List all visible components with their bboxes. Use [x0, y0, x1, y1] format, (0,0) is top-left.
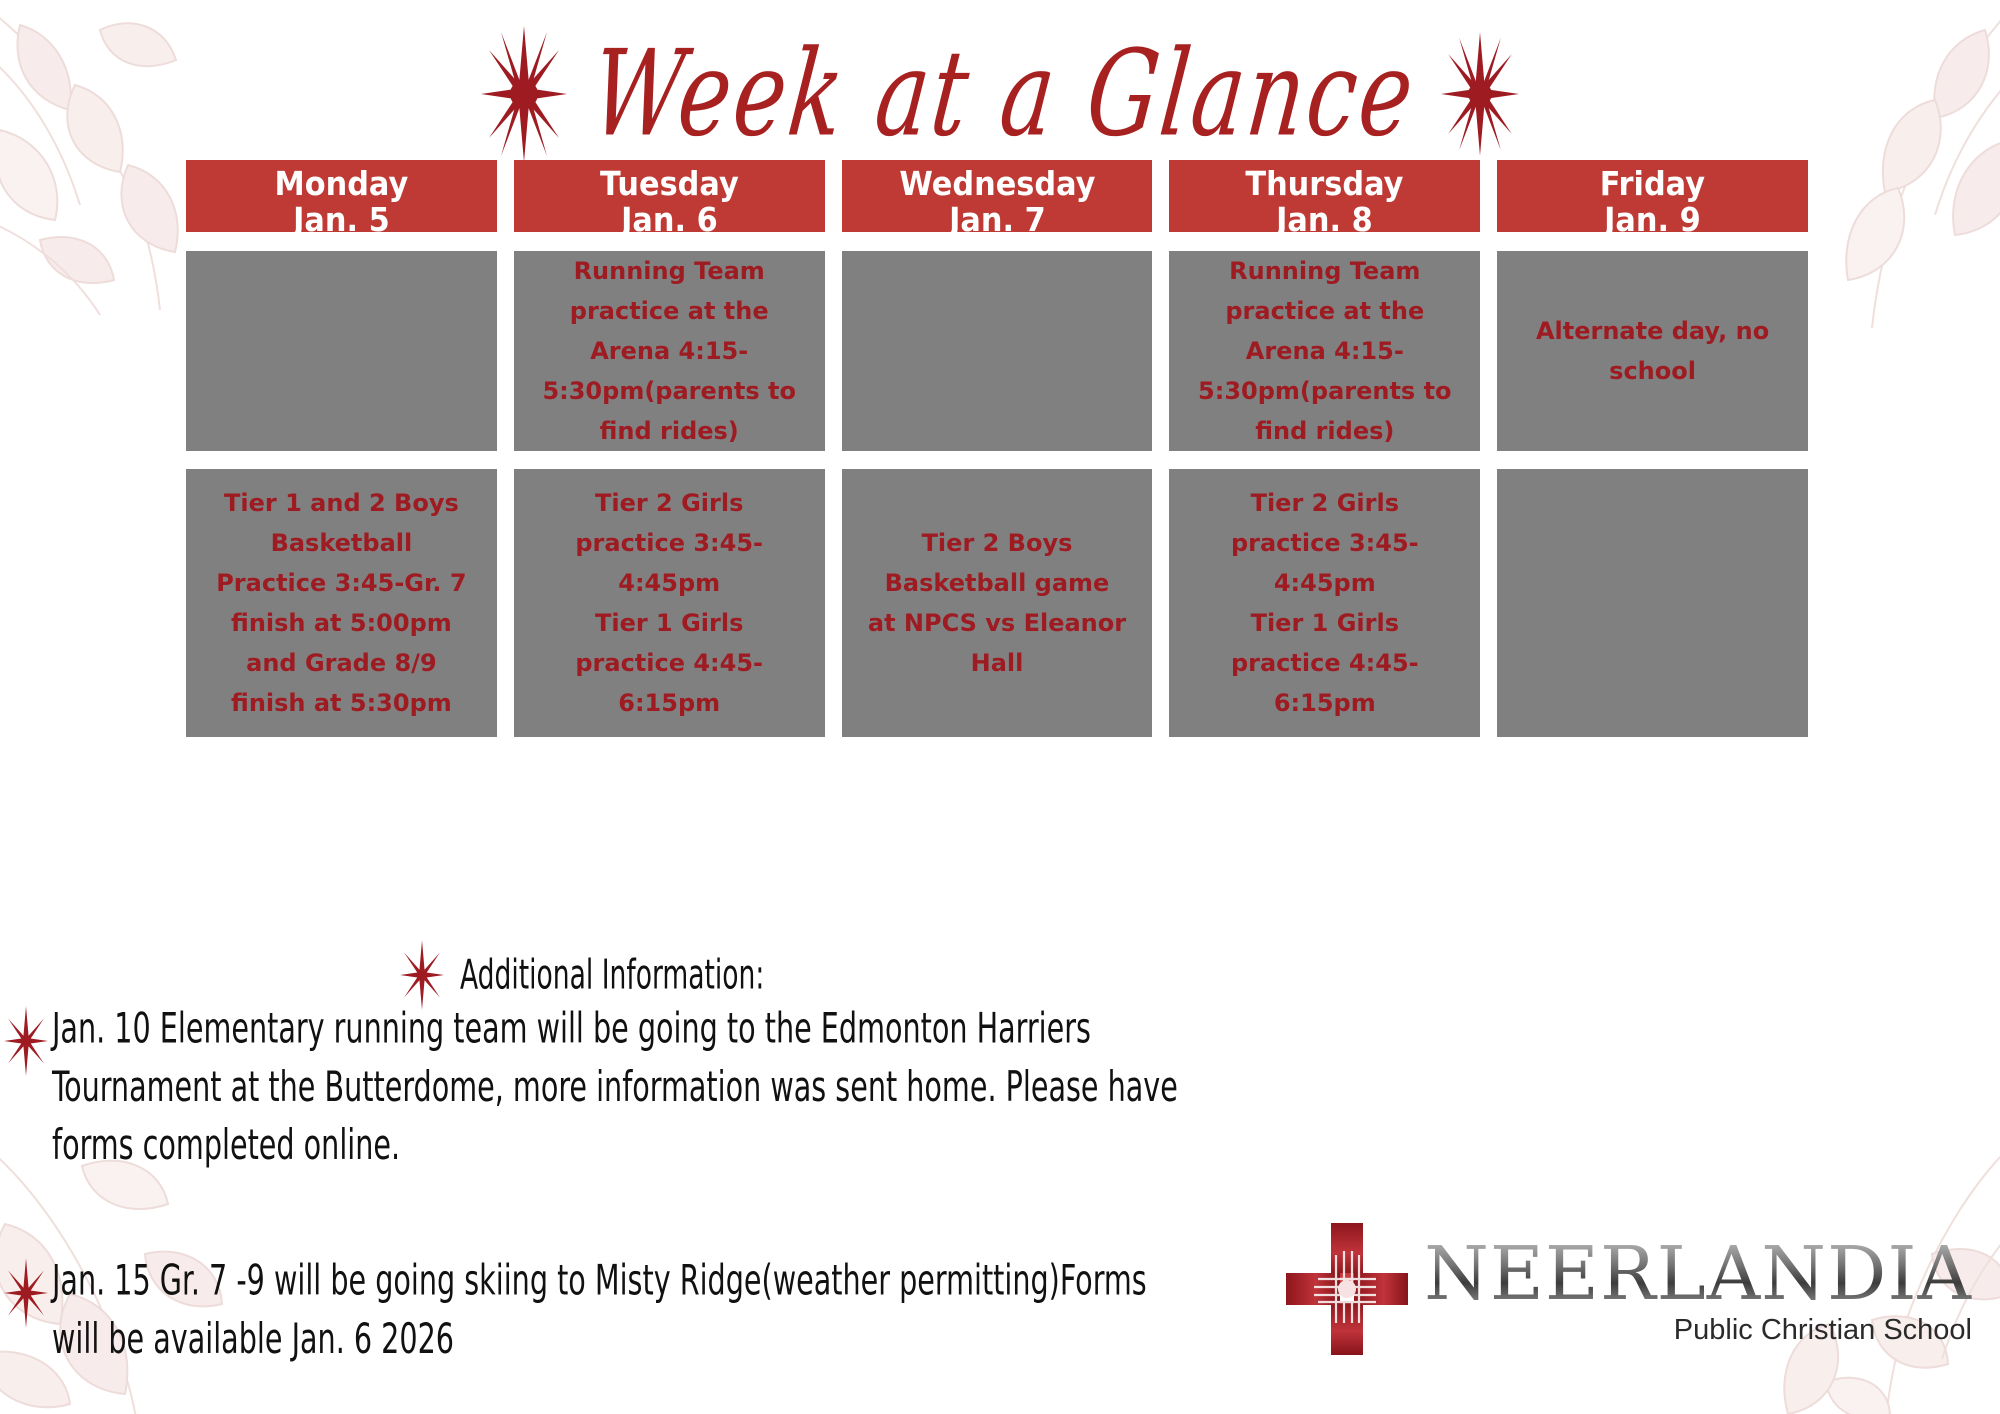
poster-title-row: Week at a Glance	[0, 34, 2000, 154]
page-title: Week at a Glance	[587, 35, 1421, 154]
day-date: Jan. 8	[1182, 202, 1468, 238]
day-header-wednesday: Wednesday Jan. 7	[842, 160, 1153, 232]
cell-text: Tier 2 Girls practice 3:45-4:45pm Tier 1…	[1195, 483, 1454, 723]
calendar-header-row: Monday Jan. 5 Tuesday Jan. 6 Wednesday J…	[186, 160, 1808, 232]
day-date: Jan. 7	[854, 202, 1140, 238]
day-header-friday: Friday Jan. 9	[1497, 160, 1808, 232]
cell-text: Tier 1 and 2 Boys Basketball Practice 3:…	[212, 483, 471, 723]
calendar-cell-wednesday-1	[842, 251, 1153, 451]
calendar-cell-monday-1	[186, 251, 497, 451]
logo-wordmark: NEERLANDIA Public Christian School	[1424, 1237, 1972, 1347]
sparkle-starburst-icon	[481, 26, 567, 162]
sparkle-starburst-icon-secondary	[1441, 31, 1519, 157]
calendar-row-two: Tier 1 and 2 Boys Basketball Practice 3:…	[186, 469, 1808, 737]
calendar-cell-thursday-2: Tier 2 Girls practice 3:45-4:45pm Tier 1…	[1169, 469, 1480, 737]
school-logo: NEERLANDIA Public Christian School	[1284, 1221, 1972, 1362]
calendar-cell-friday-1: Alternate day, no school	[1497, 251, 1808, 451]
calendar-cell-friday-2	[1497, 469, 1808, 737]
note-item: Jan. 15 Gr. 7 -9 will be going skiing to…	[52, 1252, 1382, 1356]
day-name: Monday	[198, 160, 484, 202]
note-item: Jan. 10 Elementary running team will be …	[52, 1000, 1382, 1156]
day-name: Tuesday	[526, 160, 812, 202]
calendar-cell-tuesday-1: Running Team practice at the Arena 4:15-…	[514, 251, 825, 451]
week-calendar: Monday Jan. 5 Tuesday Jan. 6 Wednesday J…	[186, 160, 1808, 755]
sparkle-bullet-icon	[4, 1006, 48, 1076]
poster-canvas: Week at a Glance	[0, 0, 2000, 1414]
calendar-cell-tuesday-2: Tier 2 Girls practice 3:45-4:45pm Tier 1…	[514, 469, 825, 737]
cell-text: Tier 2 Girls practice 3:45-4:45pm Tier 1…	[540, 483, 799, 723]
calendar-cell-monday-2: Tier 1 and 2 Boys Basketball Practice 3:…	[186, 469, 497, 737]
calendar-cell-wednesday-2: Tier 2 Boys Basketball game at NPCS vs E…	[842, 469, 1153, 737]
day-header-thursday: Thursday Jan. 8	[1169, 160, 1480, 232]
additional-information-notes: Jan. 10 Elementary running team will be …	[52, 1000, 1382, 1360]
additional-information-label: Additional Information:	[460, 951, 764, 998]
day-date: Jan. 9	[1510, 202, 1796, 238]
note-text: Jan. 10 Elementary running team will be …	[52, 1000, 1196, 1175]
four-hands-cross-icon	[1284, 1221, 1410, 1362]
day-name: Friday	[1510, 160, 1796, 202]
logo-name: NEERLANDIA	[1424, 1237, 1972, 1311]
cell-text: Running Team practice at the Arena 4:15-…	[1195, 251, 1454, 451]
day-name: Wednesday	[854, 160, 1140, 202]
day-date: Jan. 6	[526, 202, 812, 238]
calendar-cell-thursday-1: Running Team practice at the Arena 4:15-…	[1169, 251, 1480, 451]
logo-subtitle: Public Christian School	[1674, 1313, 1972, 1347]
day-date: Jan. 5	[198, 202, 484, 238]
cell-text: Running Team practice at the Arena 4:15-…	[540, 251, 799, 451]
calendar-row-one: Running Team practice at the Arena 4:15-…	[186, 251, 1808, 451]
note-text: Jan. 15 Gr. 7 -9 will be going skiing to…	[52, 1252, 1196, 1368]
cell-text: Tier 2 Boys Basketball game at NPCS vs E…	[868, 523, 1127, 683]
day-header-monday: Monday Jan. 5	[186, 160, 497, 232]
day-header-tuesday: Tuesday Jan. 6	[514, 160, 825, 232]
sparkle-bullet-icon	[4, 1258, 48, 1328]
cell-text: Alternate day, no school	[1523, 311, 1782, 391]
day-name: Thursday	[1182, 160, 1468, 202]
